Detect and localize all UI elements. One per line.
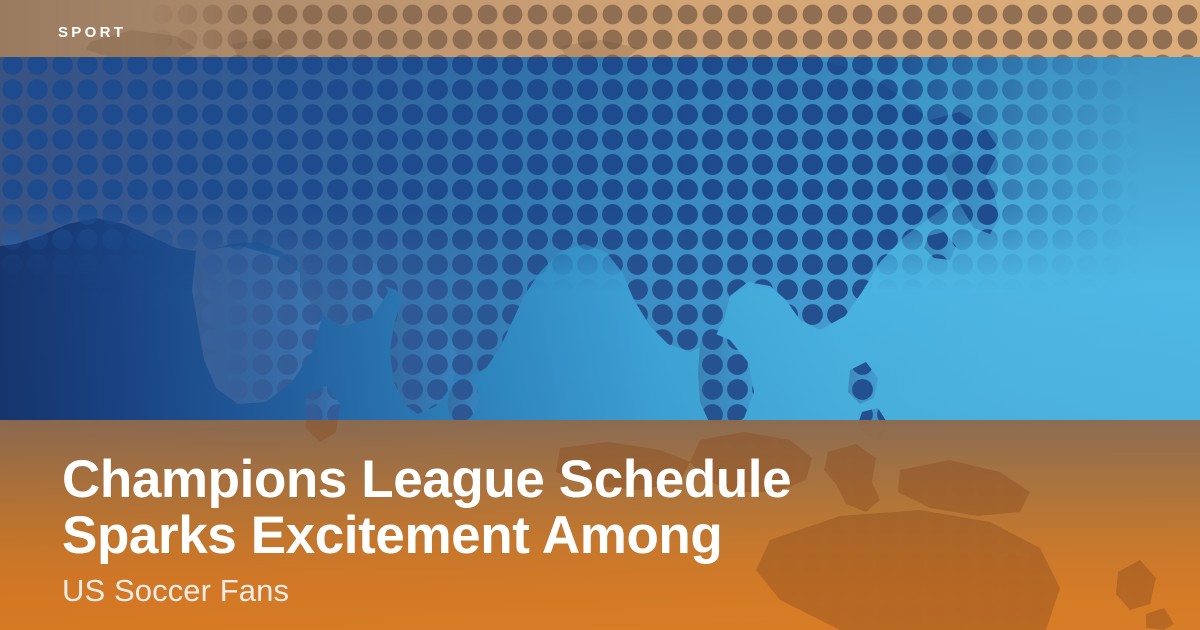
article-share-card: SPORT Champions League Schedule Sparks E… bbox=[0, 0, 1200, 630]
page-subtitle: US Soccer Fans bbox=[62, 573, 1062, 609]
page-title: Champions League Schedule Sparks Excitem… bbox=[62, 452, 1062, 564]
category-band bbox=[0, 0, 1200, 57]
headline-block: Champions League Schedule Sparks Excitem… bbox=[62, 452, 1062, 609]
category-label[interactable]: SPORT bbox=[58, 25, 126, 40]
category-band-landmass bbox=[0, 0, 1200, 57]
